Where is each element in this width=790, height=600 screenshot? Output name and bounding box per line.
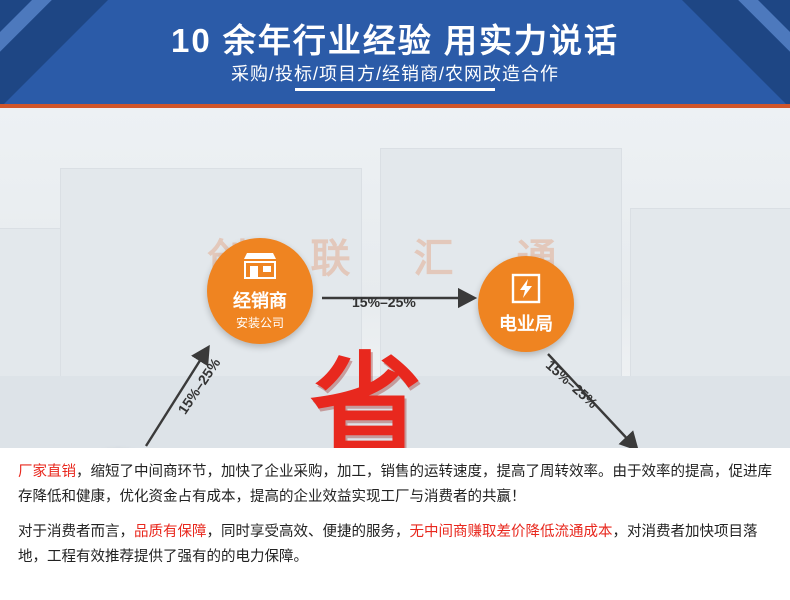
header-subtitle: 采购/投标/项目方/经销商/农网改造合作 xyxy=(0,60,790,86)
node-power-bureau-label: 电业局 xyxy=(499,310,553,336)
shop-icon xyxy=(241,251,279,285)
edge-label-dealer-to-power: 15%–25% xyxy=(352,294,416,310)
node-dealer-sublabel: 安装公司 xyxy=(236,314,284,331)
node-dealer-label: 经销商 xyxy=(233,287,287,313)
paragraph-2: 对于消费者而言，品质有保障，同时享受高效、便捷的服务，无中间商赚取差价降低流通成… xyxy=(18,520,774,570)
page-root: 10 余年行业经验 用实力说话 采购/投标/项目方/经销商/农网改造合作 创 联… xyxy=(0,0,790,600)
paragraph-1-highlight: 厂家直销 xyxy=(18,464,76,480)
paragraph-2-text-2: ，同时享受高效、便捷的服务， xyxy=(207,524,410,540)
paragraph-2-highlight-1: 品质有保障 xyxy=(134,524,207,540)
paragraph-1: 厂家直销，缩短了中间商环节，加快了企业采购，加工，销售的运转速度，提高了周转效率… xyxy=(18,460,774,510)
node-power-bureau[interactable]: 电业局 xyxy=(478,256,574,352)
header-underline xyxy=(295,88,495,91)
paragraph-2-text-1: 对于消费者而言， xyxy=(18,524,134,540)
description-section: 厂家直销，缩短了中间商环节，加快了企业采购，加工，销售的运转速度，提高了周转效率… xyxy=(0,448,790,600)
building-bolt-icon xyxy=(509,272,543,308)
header-banner: 10 余年行业经验 用实力说话 采购/投标/项目方/经销商/农网改造合作 xyxy=(0,0,790,108)
paragraph-1-text: ，缩短了中间商环节，加快了企业采购，加工，销售的运转速度，提高了周转效率。由于效… xyxy=(18,464,772,505)
header-title: 10 余年行业经验 用实力说话 xyxy=(0,14,790,62)
center-word-sheng: 省 xyxy=(310,351,422,448)
node-dealer[interactable]: 经销商 安装公司 xyxy=(207,238,313,344)
paragraph-2-highlight-2: 无中间商赚取差价降低流通成本 xyxy=(410,524,613,540)
flow-diagram: 创 联 汇 通 创联汇通 xyxy=(0,108,790,448)
